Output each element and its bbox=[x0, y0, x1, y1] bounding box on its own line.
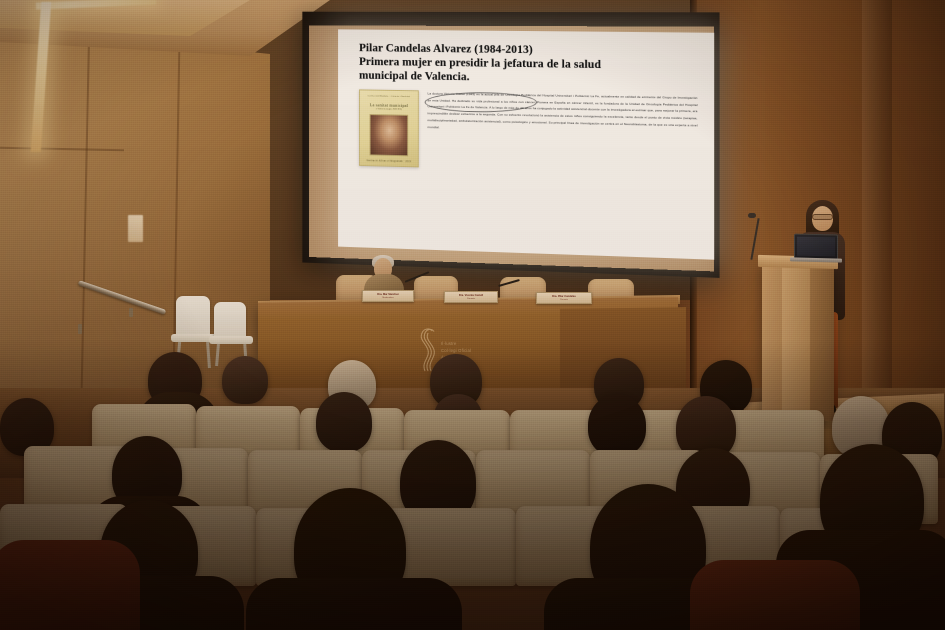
auditorium-photo: Pilar Candelas Alvarez (1984-2013) Prime… bbox=[0, 0, 945, 630]
podium-front-panel bbox=[782, 268, 810, 419]
name-placard-1: Dra. Mar Sánchez Moderadora bbox=[362, 290, 414, 302]
name-placard-2: Dra. Vicenta Castell Ponente bbox=[444, 291, 498, 303]
slide-book-cover-image: Col·lecció Història · Ciència i Societat… bbox=[359, 89, 419, 167]
slide-body-paragraph: La doctora Victoria Castel (1945) es la … bbox=[428, 90, 698, 137]
placard-3-role: Ponente bbox=[537, 299, 591, 302]
book-publisher-line: Institució Alfons el Magnànim · 2019 bbox=[360, 159, 418, 163]
glasses-icon bbox=[812, 214, 833, 220]
placard-2-role: Ponente bbox=[445, 298, 497, 301]
side-chair-1-back bbox=[176, 296, 210, 338]
audience-head bbox=[316, 392, 372, 452]
svg-text:Il·lustre: Il·lustre bbox=[441, 341, 457, 346]
book-cover-artwork bbox=[370, 114, 409, 156]
audience-shoulders bbox=[0, 540, 140, 630]
handrail-mount-upper bbox=[129, 308, 133, 317]
wall-sign-plate bbox=[128, 215, 143, 242]
projected-slide: Pilar Candelas Alvarez (1984-2013) Prime… bbox=[338, 29, 714, 259]
book-collection-line: Col·lecció Història · Ciència i Societat bbox=[364, 95, 414, 99]
highlight-ellipse-annotation bbox=[425, 92, 538, 112]
podium-microphone bbox=[748, 213, 756, 218]
audience-head bbox=[588, 394, 646, 456]
placard-1-role: Moderadora bbox=[363, 297, 413, 300]
name-placard-3: Dra. Pilar Candelas Ponente bbox=[536, 292, 592, 304]
audience-head bbox=[222, 356, 268, 404]
svg-text:Col·legi Oficial: Col·legi Oficial bbox=[441, 348, 471, 353]
laptop-screen-glow bbox=[797, 237, 835, 257]
audience-shoulders bbox=[690, 560, 860, 630]
handrail-mount-lower bbox=[78, 324, 82, 334]
side-chair-2-back bbox=[214, 302, 246, 340]
side-chair-2-seat bbox=[209, 336, 253, 344]
audience-shoulders bbox=[246, 578, 462, 630]
slide-title: Pilar Candelas Alvarez (1984-2013) Prime… bbox=[359, 41, 698, 88]
right-wall-column bbox=[862, 0, 892, 400]
